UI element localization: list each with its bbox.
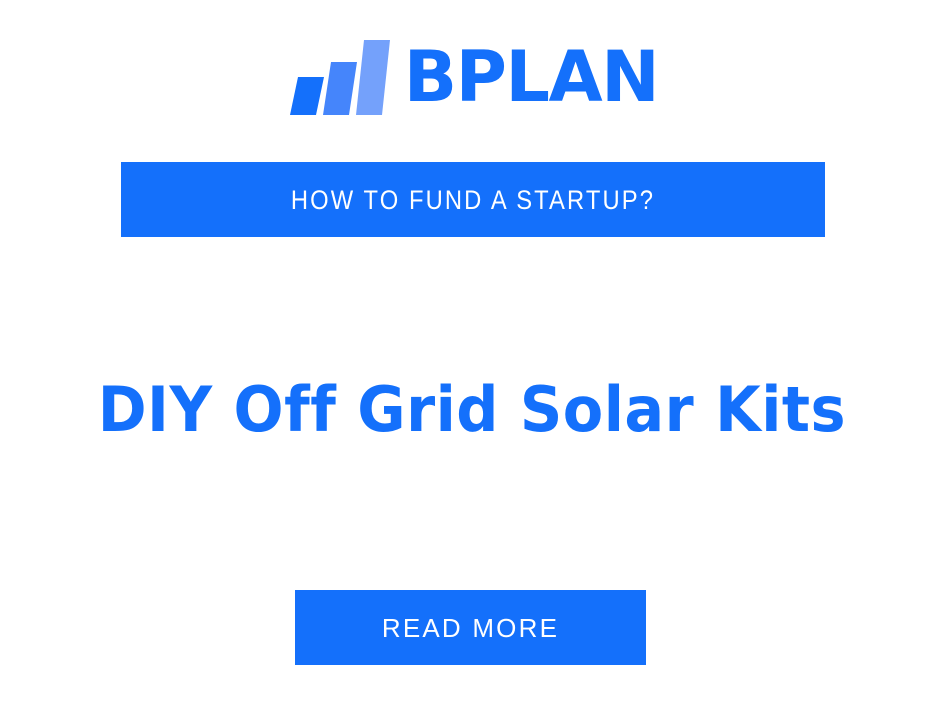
logo-bar-large — [356, 40, 390, 115]
eyebrow-banner: HOW TO FUND A STARTUP? — [121, 162, 825, 237]
brand-header: BPLAN — [0, 26, 944, 116]
headline-text: DIY Off Grid Solar Kits — [98, 372, 846, 448]
brand-wordmark: BPLAN — [404, 42, 659, 112]
logo-bar-small — [290, 77, 324, 115]
read-more-button[interactable]: READ MORE — [295, 590, 646, 665]
headline: DIY Off Grid Solar Kits — [0, 372, 944, 448]
read-more-button-label: READ MORE — [382, 614, 559, 642]
eyebrow-banner-text: HOW TO FUND A STARTUP? — [291, 185, 655, 215]
logo-bar-medium — [323, 62, 357, 115]
ad-card: BPLAN HOW TO FUND A STARTUP? DIY Off Gri… — [0, 0, 944, 708]
bar-chart-logo-icon — [286, 33, 390, 115]
